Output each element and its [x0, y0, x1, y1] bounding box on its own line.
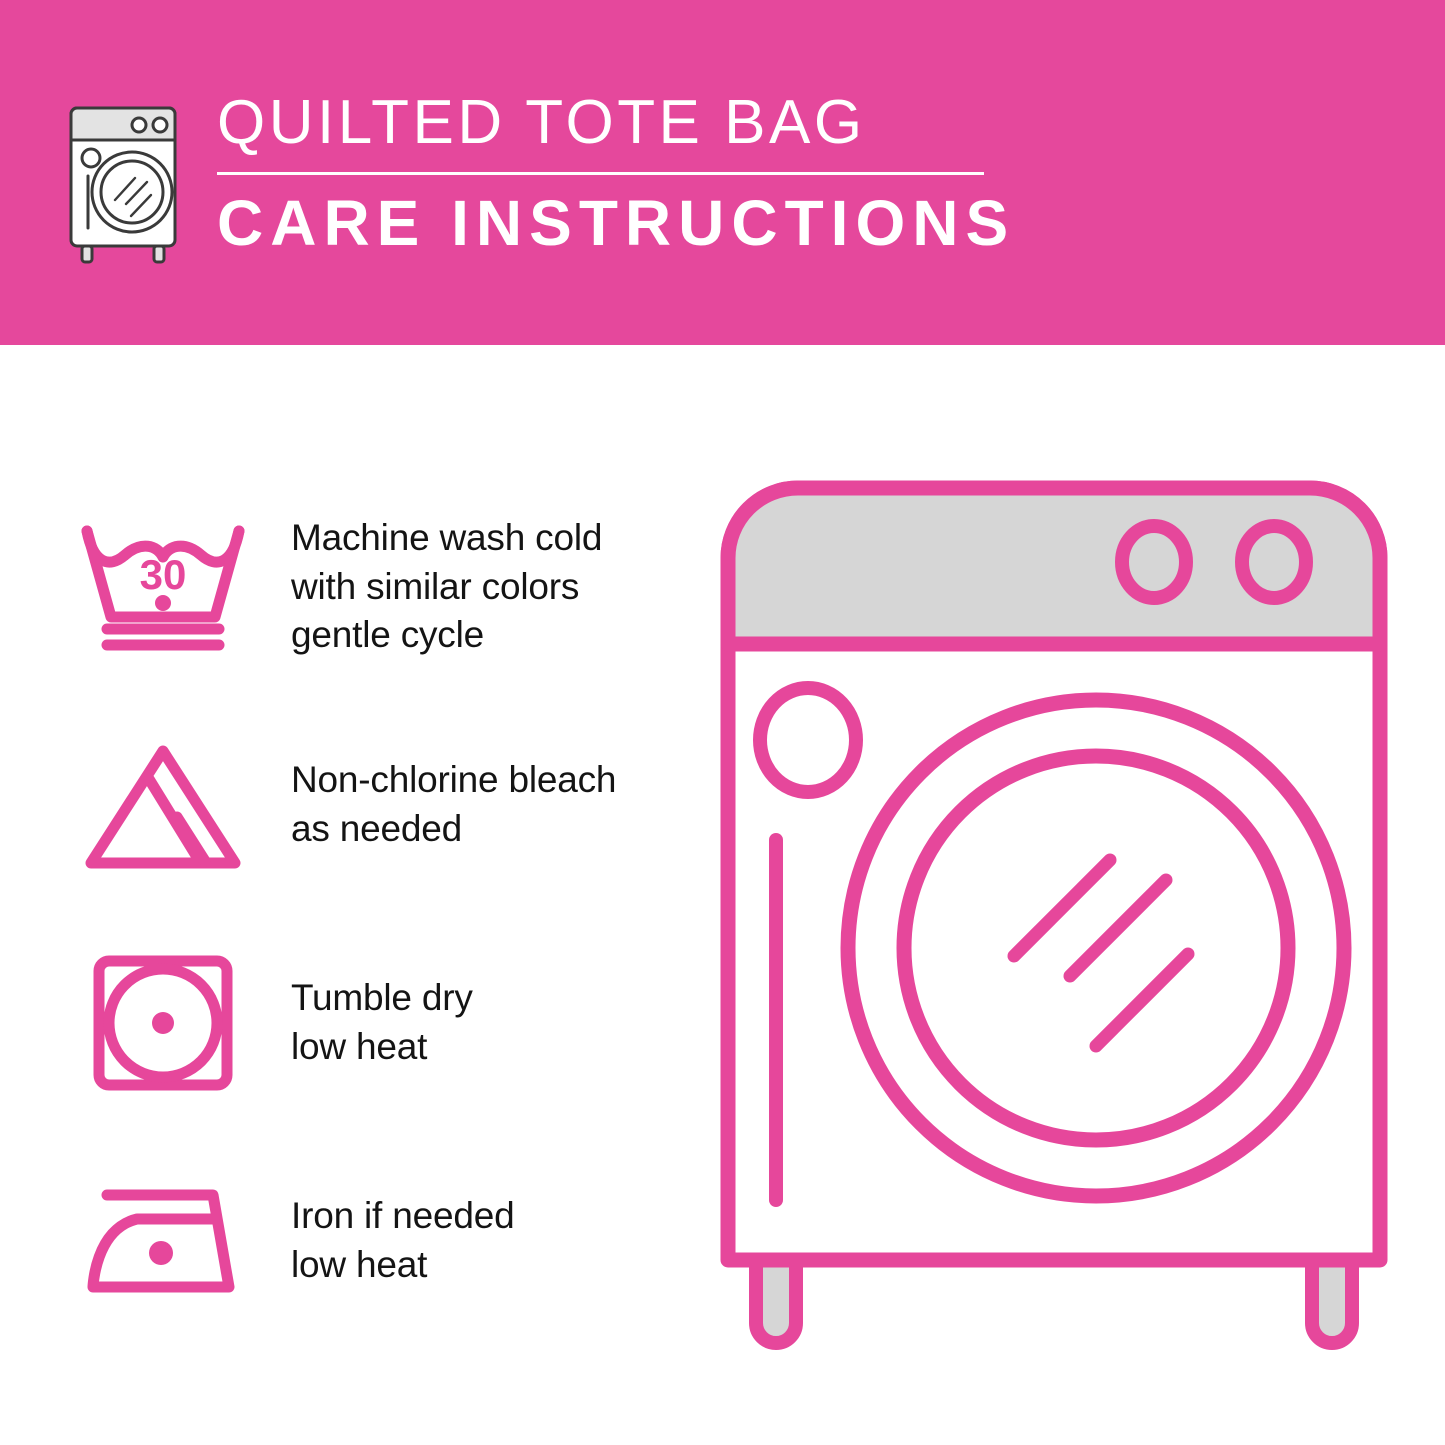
- tumble-dry-icon: [60, 953, 265, 1093]
- instruction-line: Tumble dry: [291, 974, 473, 1023]
- iron-icon: [60, 1171, 265, 1311]
- list-item-label: Non-chlorine bleach as needed: [265, 756, 616, 854]
- wash-temperature-label: 30: [139, 551, 186, 598]
- care-instruction-list: 30 Machine wash cold with similar colors…: [60, 478, 700, 1350]
- instruction-line: low heat: [291, 1023, 473, 1072]
- list-item-label: Machine wash cold with similar colors ge…: [265, 514, 602, 660]
- instruction-line: Non-chlorine bleach: [291, 756, 616, 805]
- instruction-line: gentle cycle: [291, 611, 602, 660]
- bleach-triangle-icon: [60, 735, 265, 875]
- list-item: Iron if needed low heat: [60, 1132, 700, 1350]
- machine-foot-right: [1312, 1258, 1352, 1343]
- instruction-line: with similar colors: [291, 563, 602, 612]
- list-item-label: Tumble dry low heat: [265, 974, 473, 1072]
- care-instructions-title: CARE INSTRUCTIONS: [213, 191, 1015, 255]
- machine-foot-left: [756, 1258, 796, 1343]
- header-banner: QUILTED TOTE BAG CARE INSTRUCTIONS: [0, 0, 1445, 345]
- instruction-line: Machine wash cold: [291, 514, 602, 563]
- list-item: Non-chlorine bleach as needed: [60, 696, 700, 914]
- list-item: 30 Machine wash cold with similar colors…: [60, 478, 700, 696]
- front-load-washing-machine-illustration: [718, 478, 1408, 1378]
- list-item: Tumble dry low heat: [60, 914, 700, 1132]
- instruction-line: Iron if needed: [291, 1192, 514, 1241]
- header-title-group: QUILTED TOTE BAG CARE INSTRUCTIONS: [213, 92, 1015, 255]
- wash-tub-icon: 30: [60, 517, 265, 657]
- instruction-line: as needed: [291, 805, 616, 854]
- washing-machine-icon: [55, 100, 191, 266]
- header-content: QUILTED TOTE BAG CARE INSTRUCTIONS: [55, 92, 1015, 266]
- instruction-line: low heat: [291, 1241, 514, 1290]
- title-divider: [217, 172, 984, 175]
- list-item-label: Iron if needed low heat: [265, 1192, 514, 1290]
- page-title: QUILTED TOTE BAG: [213, 92, 1015, 154]
